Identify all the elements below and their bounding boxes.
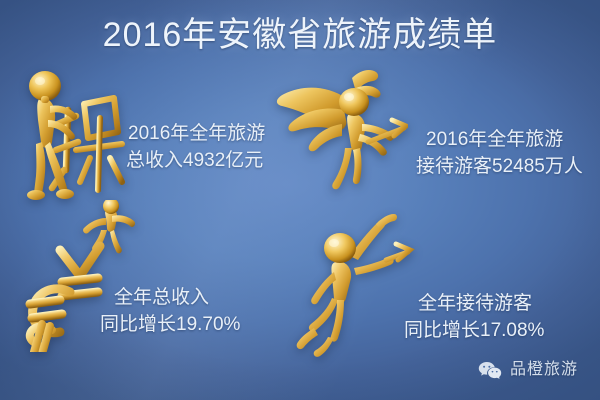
stat-visitors-line1: 2016年全年旅游	[416, 126, 583, 153]
stat-visitor-growth-line1: 全年接待游客	[404, 290, 544, 317]
stat-revenue-growth-line1: 全年总收入	[100, 284, 240, 311]
gold-winged-figure-icon	[268, 66, 408, 196]
page-title: 2016年安徽省旅游成绩单	[0, 14, 600, 56]
wechat-icon	[478, 360, 502, 380]
stat-visitor-growth-line2: 同比增长17.08%	[404, 317, 544, 345]
stat-revenue-growth-caption: 全年总收入 同比增长19.70%	[100, 284, 240, 339]
stat-revenue-line2: 总收入4932亿元	[126, 147, 265, 175]
infographic-poster: 2016年安徽省旅游成绩单	[0, 0, 600, 400]
gold-figure-pushing-shou-character-icon	[6, 58, 138, 200]
gold-leaping-figure-icon	[288, 210, 420, 358]
watermark-label: 品橙旅游	[510, 360, 578, 380]
stat-visitor-growth-caption: 全年接待游客 同比增长17.08%	[404, 290, 544, 345]
watermark: 品橙旅游	[478, 360, 578, 380]
stat-visitors-line2: 接待游客52485万人	[416, 153, 583, 181]
stat-visitors-caption: 2016年全年旅游 接待游客52485万人	[416, 126, 583, 181]
stat-revenue-caption: 2016年全年旅游 总收入4932亿元	[126, 120, 265, 175]
stat-revenue-growth-line2: 同比增长19.70%	[100, 311, 240, 339]
stat-revenue-line1: 2016年全年旅游	[126, 120, 265, 147]
